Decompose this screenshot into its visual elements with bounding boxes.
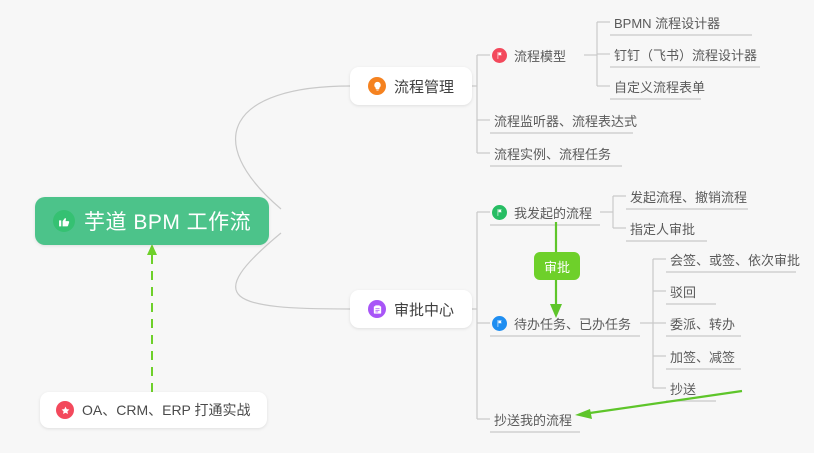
node-assignee-approval[interactable]: 指定人审批 — [628, 215, 697, 241]
annotation-approval-tag[interactable]: 审批 — [534, 252, 580, 280]
label-process-model: 流程模型 — [514, 46, 566, 65]
annotation-integration-note[interactable]: OA、CRM、ERP 打通实战 — [40, 392, 267, 428]
node-add-remove-sign[interactable]: 加签、减签 — [668, 343, 737, 369]
arrow-integration-to-root — [147, 244, 157, 392]
root-label: 芋道 BPM 工作流 — [84, 206, 251, 236]
node-process-instance-task[interactable]: 流程实例、流程任务 — [492, 140, 613, 166]
link-root-to-process-management — [236, 86, 350, 209]
node-bpmn-designer[interactable]: BPMN 流程设计器 — [612, 9, 722, 35]
node-cc[interactable]: 抄送 — [668, 375, 698, 401]
label-process-listener-expression: 流程监听器、流程表达式 — [494, 111, 637, 130]
label-assignee-approval: 指定人审批 — [630, 219, 695, 238]
label-start-cancel-process: 发起流程、撤销流程 — [630, 187, 747, 206]
root-node[interactable]: 芋道 BPM 工作流 — [35, 197, 269, 245]
label-custom-process-form: 自定义流程表单 — [614, 77, 705, 96]
node-cc-to-me-processes[interactable]: 抄送我的流程 — [492, 406, 574, 432]
label-my-started-processes: 我发起的流程 — [514, 203, 592, 222]
node-todo-done-tasks[interactable]: 待办任务、已办任务 — [490, 310, 633, 336]
arrow-cc-to-ccme — [575, 391, 742, 419]
annotation-approval-tag-label: 审批 — [544, 257, 570, 276]
node-multi-sign-or-sign-sequential[interactable]: 会签、或签、依次审批 — [668, 246, 802, 272]
node-delegate-transfer[interactable]: 委派、转办 — [668, 310, 737, 336]
label-todo-done-tasks: 待办任务、已办任务 — [514, 314, 631, 333]
node-custom-process-form[interactable]: 自定义流程表单 — [612, 73, 707, 99]
label-process-instance-task: 流程实例、流程任务 — [494, 144, 611, 163]
label-reject: 驳回 — [670, 282, 696, 301]
label-multi-sign-or-sign-sequential: 会签、或签、依次审批 — [670, 250, 800, 269]
node-start-cancel-process[interactable]: 发起流程、撤销流程 — [628, 183, 749, 209]
annotation-integration-note-label: OA、CRM、ERP 打通实战 — [82, 400, 251, 420]
lightbulb-icon — [368, 77, 386, 95]
label-delegate-transfer: 委派、转办 — [670, 314, 735, 333]
flag-icon-green — [492, 205, 507, 220]
branch-label-process-management: 流程管理 — [394, 76, 454, 97]
thumbs-up-icon — [53, 210, 75, 232]
flag-icon-blue — [492, 316, 507, 331]
branch-node-process-management[interactable]: 流程管理 — [350, 67, 472, 105]
label-add-remove-sign: 加签、减签 — [670, 347, 735, 366]
node-dingtalk-feishu-designer[interactable]: 钉钉（飞书）流程设计器 — [612, 41, 759, 67]
label-cc: 抄送 — [670, 379, 696, 398]
label-cc-to-me-processes: 抄送我的流程 — [494, 410, 572, 429]
node-reject[interactable]: 驳回 — [668, 278, 698, 304]
node-process-listener-expression[interactable]: 流程监听器、流程表达式 — [492, 107, 639, 133]
flag-icon-red — [492, 48, 507, 63]
label-bpmn-designer: BPMN 流程设计器 — [614, 13, 720, 32]
branch-label-approval-center: 审批中心 — [394, 299, 454, 320]
node-process-model[interactable]: 流程模型 — [490, 42, 568, 68]
node-my-started-processes[interactable]: 我发起的流程 — [490, 199, 594, 225]
star-icon — [56, 401, 74, 419]
branch-node-approval-center[interactable]: 审批中心 — [350, 290, 472, 328]
clipboard-icon — [368, 300, 386, 318]
mindmap-canvas: 芋道 BPM 工作流 流程管理 审批中心 — [0, 0, 814, 453]
label-dingtalk-feishu-designer: 钉钉（飞书）流程设计器 — [614, 45, 757, 64]
